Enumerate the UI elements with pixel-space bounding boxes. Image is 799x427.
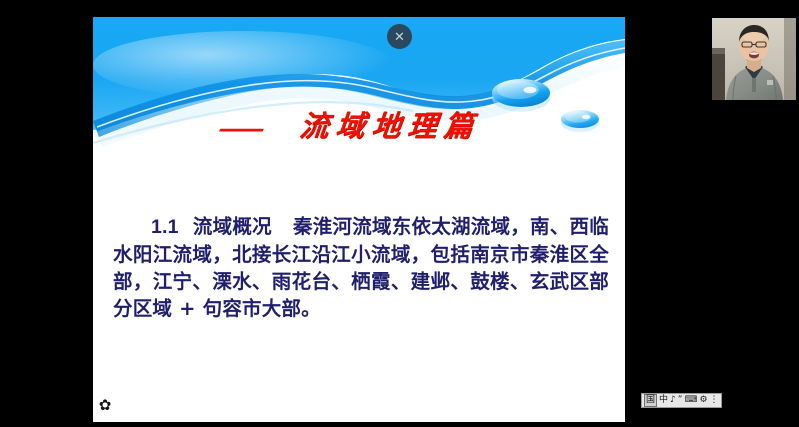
close-icon[interactable]: ✕ bbox=[387, 24, 412, 49]
presentation-slide[interactable]: 一 流域地理篇 1.1 流域概况 秦淮河流域东依太湖流域，南、西临水阳江流域，北… bbox=[93, 17, 625, 422]
ime-punctuation-mode[interactable]: ♪ bbox=[670, 395, 676, 406]
section-heading: 流域概况 bbox=[193, 215, 272, 238]
slide-body-text: 1.1 流域概况 秦淮河流域东依太湖流域，南、西临水阳江流域，北接长江沿江小流域… bbox=[113, 213, 609, 322]
ime-chinese-mode[interactable]: 中 bbox=[659, 395, 668, 406]
screen-share-viewport: 一 流域地理篇 1.1 流域概况 秦淮河流域东依太湖流域，南、西临水阳江流域，北… bbox=[0, 0, 799, 427]
section-paragraph: 秦淮河流域东依太湖流域，南、西临水阳江流域，北接长江沿江小流域，包括南京市秦淮区… bbox=[113, 215, 609, 320]
water-droplet-small bbox=[561, 110, 599, 132]
ime-settings-icon[interactable]: ⚙ bbox=[699, 395, 707, 406]
water-droplet-large bbox=[492, 79, 550, 112]
water-wave-banner bbox=[93, 17, 625, 149]
ime-soft-keyboard-icon[interactable]: ⌨ bbox=[684, 395, 697, 406]
section-number: 1.1 bbox=[151, 216, 179, 238]
corner-logo-icon: ✿ bbox=[97, 398, 113, 414]
ime-halfwidth-toggle[interactable]: ˮ bbox=[678, 395, 683, 406]
ime-language-box[interactable]: 国 bbox=[644, 394, 657, 407]
presenter-webcam[interactable] bbox=[712, 18, 796, 100]
ime-menu-icon[interactable]: ⋮ bbox=[710, 395, 719, 406]
input-method-status-bar[interactable]: 国 中 ♪ ˮ ⌨ ⚙ ⋮ bbox=[641, 393, 722, 408]
